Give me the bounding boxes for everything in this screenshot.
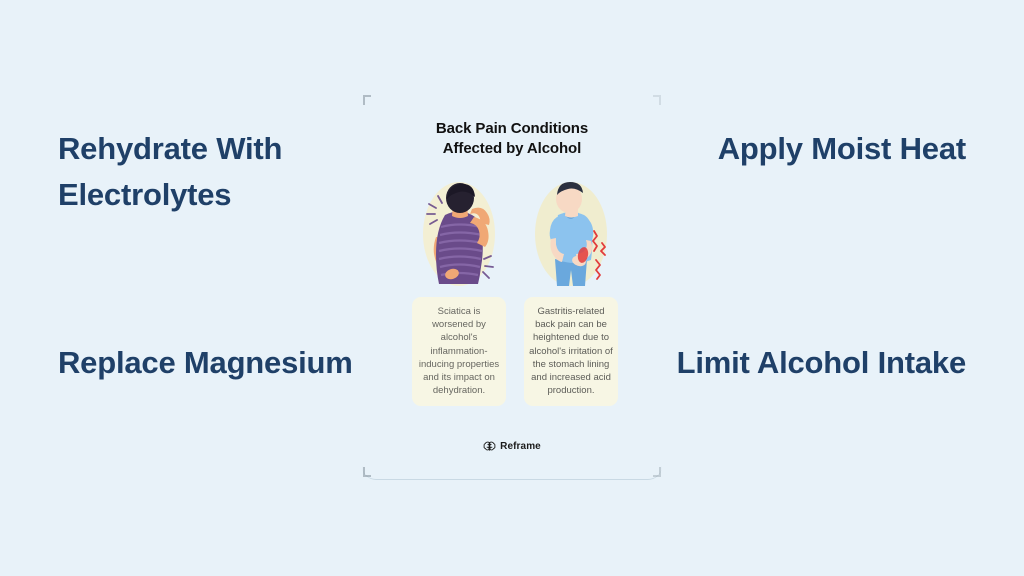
- corner-mark-bottom-right: [652, 466, 661, 477]
- heading-moist-heat: Apply Moist Heat: [666, 126, 966, 172]
- card-title-line-1: Back Pain Conditions: [362, 119, 662, 139]
- corner-mark-top-right: [652, 95, 661, 106]
- fact-card-row: Sciatica is worsened by alcohol's inflam…: [412, 297, 618, 406]
- brain-icon: [483, 440, 496, 453]
- brand-footer: Reframe: [362, 440, 662, 453]
- corner-mark-top-left: [363, 95, 372, 106]
- illustration-row: [412, 175, 618, 293]
- heading-rehydrate: Rehydrate With Electrolytes: [58, 126, 358, 218]
- fact-card-sciatica: Sciatica is worsened by alcohol's inflam…: [412, 297, 506, 406]
- sciatica-figure-illustration: [412, 175, 506, 293]
- corner-mark-bottom-left: [363, 466, 372, 477]
- card-title: Back Pain Conditions Affected by Alcohol: [362, 119, 662, 159]
- heading-limit-alcohol: Limit Alcohol Intake: [666, 340, 966, 386]
- brand-name: Reframe: [500, 441, 541, 452]
- slide-canvas: Rehydrate With Electrolytes Apply Moist …: [0, 0, 1024, 576]
- card-title-line-2: Affected by Alcohol: [362, 139, 662, 159]
- gastritis-figure-illustration: [524, 175, 618, 293]
- heading-replace-magnesium: Replace Magnesium: [58, 340, 388, 386]
- infographic-card: Back Pain Conditions Affected by Alcohol: [362, 95, 662, 480]
- fact-card-gastritis: Gastritis-related back pain can be heigh…: [524, 297, 618, 406]
